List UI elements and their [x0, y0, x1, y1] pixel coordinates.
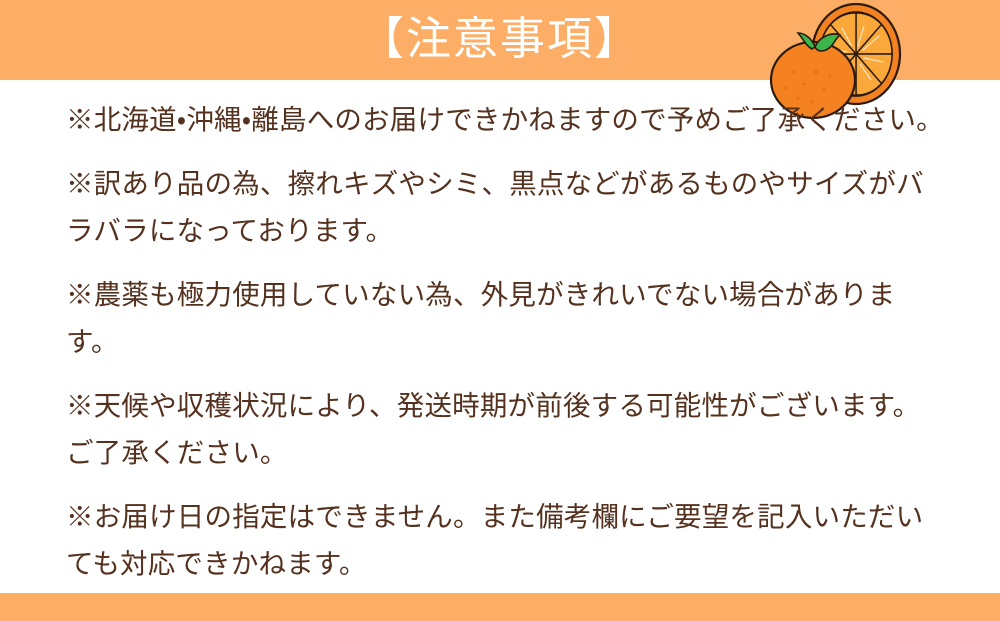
page-title: 【注意事項】	[0, 0, 1000, 80]
notice-item: ※農薬も極力使用していない為、外見がきれいでない場合があります。	[66, 271, 946, 365]
footer-band	[0, 593, 1000, 621]
notice-item: ※お届け日の指定はできません。また備考欄にご要望を記入いただいても対応できかねま…	[66, 493, 946, 587]
notice-item: ※北海道・沖縄・離島へのお届けできかねますので予めご了承ください。	[66, 96, 946, 143]
notice-item: ※訳あり品の為、擦れキズやシミ、黒点などがあるものやサイズがバラバラになっており…	[66, 160, 946, 254]
notice-list: ※北海道・沖縄・離島へのお届けできかねますので予めご了承ください。 ※訳あり品の…	[66, 96, 946, 621]
header-band: 【注意事項】	[0, 0, 1000, 80]
notice-item: ※天候や収穫状況により、発送時期が前後する可能性がございます。ご了承ください。	[66, 382, 946, 476]
notice-page: 【注意事項】	[0, 0, 1000, 621]
